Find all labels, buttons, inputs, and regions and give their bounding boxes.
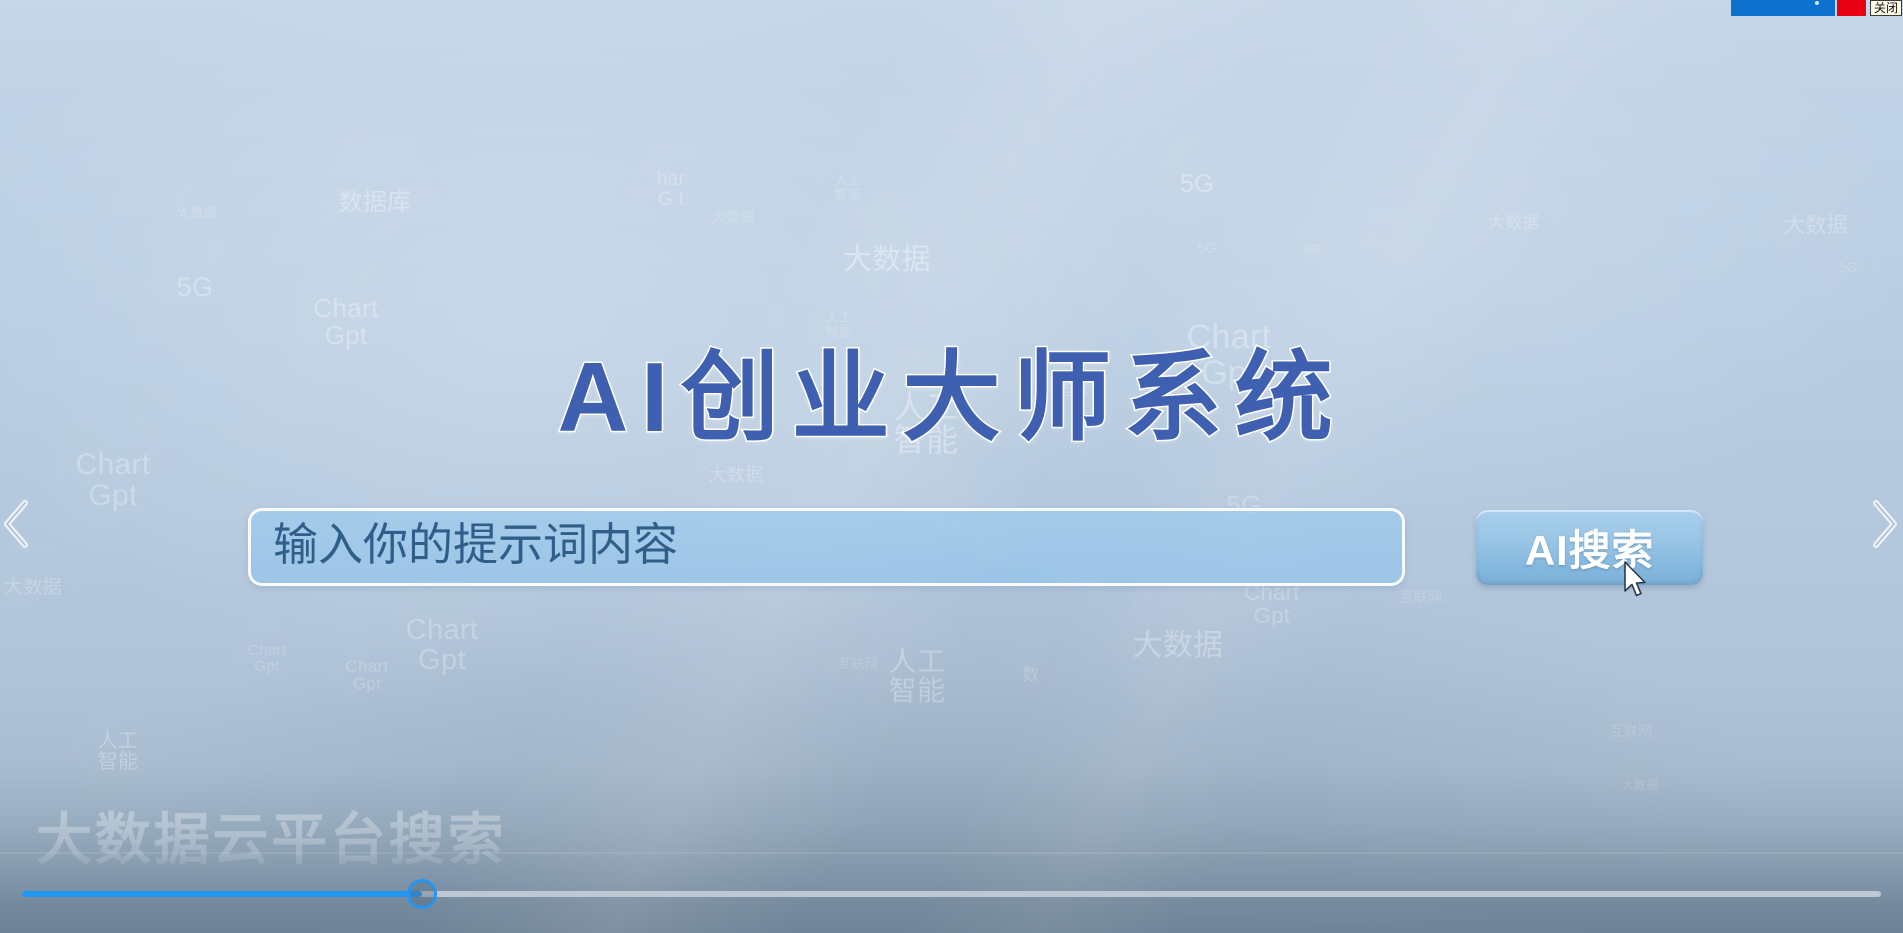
page-title: AI创业大师系统 bbox=[0, 318, 1903, 460]
search-row: AI搜索 bbox=[248, 508, 1703, 588]
playback-controls bbox=[0, 855, 1903, 933]
taskbar-indicator-dot bbox=[1815, 1, 1819, 5]
prompt-input[interactable] bbox=[248, 508, 1405, 586]
close-tooltip: 关闭 bbox=[1870, 0, 1902, 16]
next-slide-arrow[interactable] bbox=[1863, 494, 1903, 554]
prev-slide-arrow[interactable] bbox=[0, 494, 38, 554]
window-close-button[interactable] bbox=[1837, 0, 1866, 16]
progress-fill bbox=[22, 891, 422, 897]
chevron-left-icon bbox=[1, 498, 31, 550]
video-player-stage: 数据库大数据5GChart GptChart Gpt大数据人工 智能Chart … bbox=[0, 0, 1903, 933]
taskbar-blue-strip[interactable] bbox=[1731, 0, 1835, 16]
ai-search-button[interactable]: AI搜索 bbox=[1476, 510, 1703, 585]
background-light-streaks bbox=[0, 0, 1903, 933]
chevron-right-icon bbox=[1870, 498, 1900, 550]
progress-track[interactable] bbox=[22, 891, 1881, 897]
progress-handle[interactable] bbox=[407, 879, 437, 909]
window-chrome: 关闭 bbox=[1731, 0, 1903, 16]
